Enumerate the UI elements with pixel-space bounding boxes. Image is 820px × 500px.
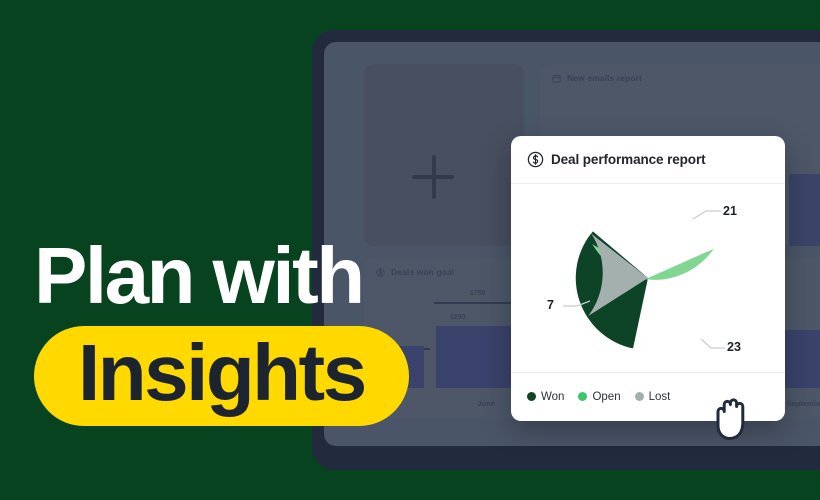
legend-label-open: Open xyxy=(592,391,620,403)
poster-canvas: New emails report Sent Deals won goal xyxy=(0,0,820,500)
deal-performance-report-card[interactable]: Deal performance report 21 7 23 xyxy=(511,136,785,421)
legend-dot-open xyxy=(578,392,587,401)
legend-item-lost[interactable]: Lost xyxy=(635,391,671,403)
pie-chart xyxy=(511,184,785,372)
legend-label-won: Won xyxy=(541,391,564,403)
pie-label-lost: 7 xyxy=(547,298,554,312)
leader-line-open xyxy=(701,339,725,348)
emails-card-title: New emails report xyxy=(567,73,642,83)
emails-card-header: New emails report xyxy=(540,64,820,92)
dollar-circle-icon xyxy=(527,151,544,168)
headline-block: Plan with Insights xyxy=(34,238,409,426)
leader-line-won xyxy=(693,211,721,219)
calendar-icon xyxy=(552,74,561,83)
goal-value-top: 1750 xyxy=(470,290,486,297)
pie-label-open: 23 xyxy=(727,340,741,354)
legend-item-won[interactable]: Won xyxy=(527,391,564,403)
grab-hand-cursor xyxy=(708,392,754,444)
insights-pill: Insights xyxy=(34,326,409,426)
pie-chart-body: 21 7 23 xyxy=(511,184,785,372)
legend-label-lost: Lost xyxy=(649,391,671,403)
emails-bar xyxy=(789,174,820,246)
goal-value-bar: 1250 xyxy=(450,314,466,321)
legend-dot-won xyxy=(527,392,536,401)
legend-item-open[interactable]: Open xyxy=(578,391,620,403)
report-card-title: Deal performance report xyxy=(551,152,706,167)
report-card-header: Deal performance report xyxy=(511,136,785,184)
plus-icon xyxy=(432,155,436,199)
legend-dot-lost xyxy=(635,392,644,401)
headline-line-1: Plan with xyxy=(34,238,409,314)
dashboard-add-card[interactable] xyxy=(364,64,524,246)
pie-label-won: 21 xyxy=(723,204,737,218)
headline-line-2: Insights xyxy=(78,333,365,413)
